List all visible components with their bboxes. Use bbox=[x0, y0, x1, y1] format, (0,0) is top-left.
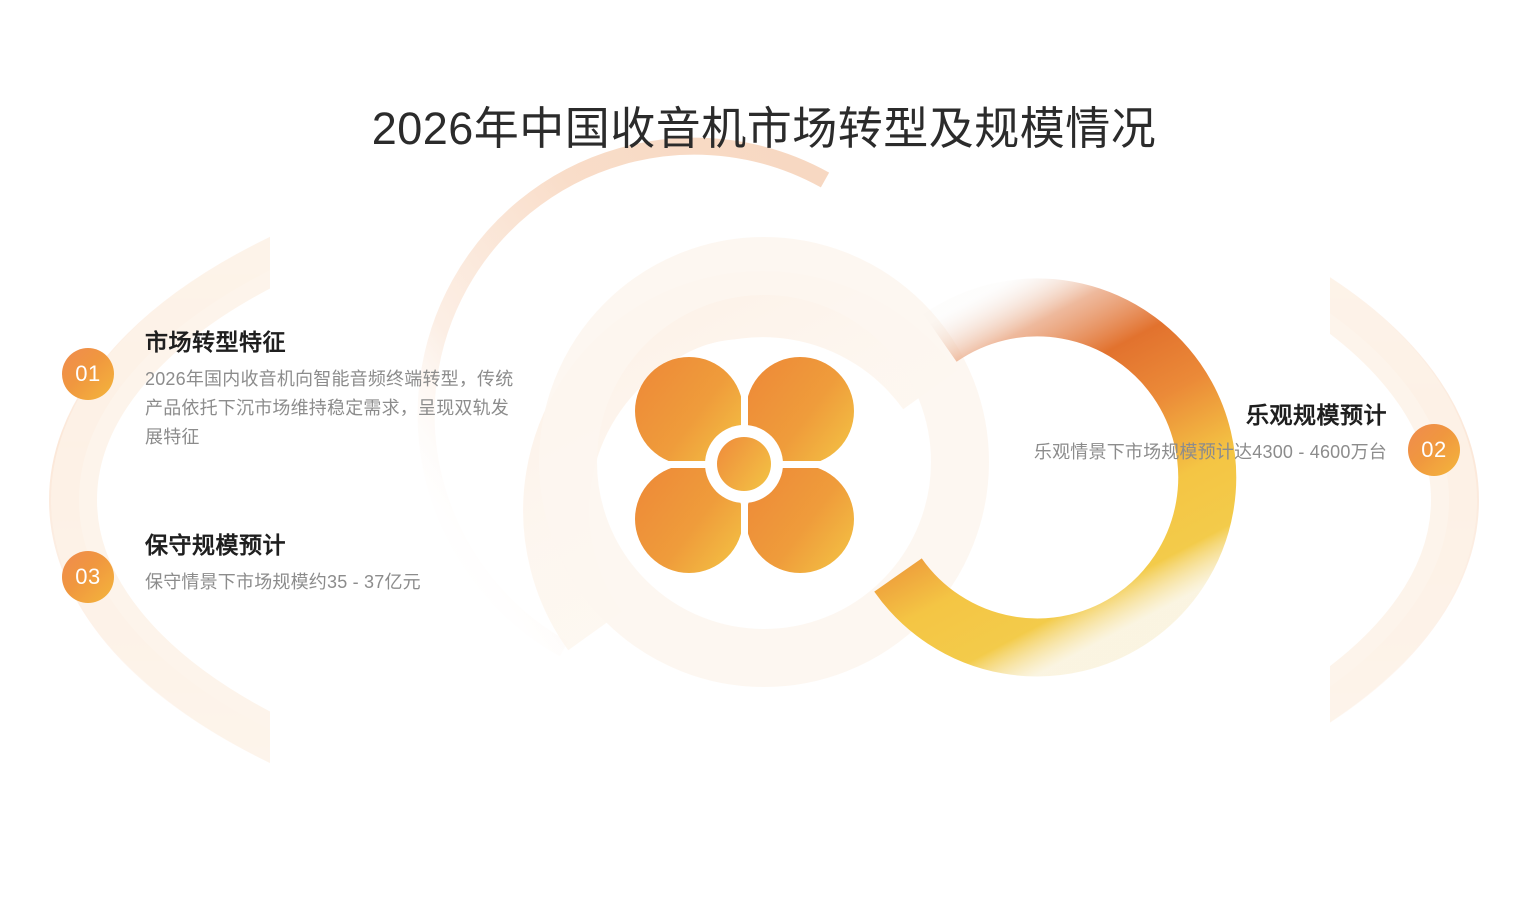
item-body-02: 乐观情景下市场规模预计达4300 - 4600万台 bbox=[1010, 438, 1387, 467]
item-text-01: 市场转型特征 2026年国内收音机向智能音频终端转型，传统产品依托下沉市场维持稳… bbox=[145, 327, 525, 453]
petal-top-right bbox=[746, 357, 854, 465]
item-badge-03[interactable]: 03 bbox=[62, 551, 114, 603]
mid-faint-ring-halo bbox=[568, 266, 960, 658]
outer-side-ring-right bbox=[64, 152, 1464, 848]
petal-top-left bbox=[635, 357, 743, 465]
item-badge-02[interactable]: 02 bbox=[1408, 424, 1460, 476]
petal-gap-horizontal bbox=[631, 461, 857, 468]
emblem-center-ring bbox=[705, 425, 783, 503]
emblem-center-core bbox=[717, 437, 771, 491]
outer-side-ring-left-soft bbox=[74, 160, 1454, 840]
outer-side-ring-left bbox=[64, 152, 1464, 848]
item-heading-01: 市场转型特征 bbox=[145, 327, 525, 358]
four-petal-flower-icon bbox=[631, 352, 857, 578]
item-body-01: 2026年国内收音机向智能音频终端转型，传统产品依托下沉市场维持稳定需求，呈现双… bbox=[145, 365, 525, 452]
item-badge-01[interactable]: 01 bbox=[62, 348, 114, 400]
item-heading-02: 乐观规模预计 bbox=[1010, 400, 1387, 431]
page-title: 2026年中国收音机市场转型及规模情况 bbox=[0, 102, 1528, 156]
petal-bottom-right bbox=[746, 465, 854, 573]
infographic-canvas: 2026年中国收音机市场转型及规模情况 01 市场转型特征 2026年国内收音机… bbox=[0, 0, 1528, 904]
item-body-03: 保守情景下市场规模约35 - 37亿元 bbox=[145, 568, 525, 597]
item-text-03: 保守规模预计 保守情景下市场规模约35 - 37亿元 bbox=[145, 530, 525, 597]
item-heading-03: 保守规模预计 bbox=[145, 530, 525, 561]
mid-faint-ring bbox=[556, 304, 930, 631]
petal-gap-vertical bbox=[741, 352, 748, 578]
petal-bottom-left bbox=[635, 465, 743, 573]
outer-side-ring-right-soft bbox=[74, 160, 1454, 840]
inner-orange-arc bbox=[898, 307, 1207, 647]
item-text-02: 乐观规模预计 乐观情景下市场规模预计达4300 - 4600万台 bbox=[1010, 400, 1387, 467]
emblem-backplate bbox=[620, 339, 868, 587]
